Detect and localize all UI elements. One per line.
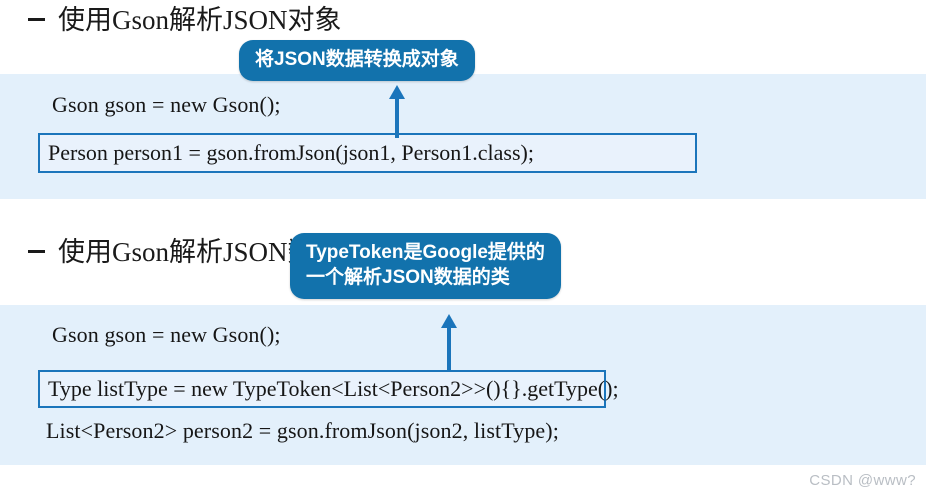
- highlighted-code-box-2: Type listType = new TypeToken<List<Perso…: [38, 370, 606, 408]
- callout-1-line-1: 将JSON数据转换成对象: [255, 47, 459, 72]
- section-heading-1: 使用Gson解析JSON对象: [28, 6, 342, 34]
- csdn-watermark: CSDN @www?: [809, 472, 916, 489]
- callout-arrow-2-icon: [437, 313, 461, 371]
- section-heading-1-text: 使用Gson解析JSON对象: [58, 6, 342, 34]
- code-line-1-1: Gson gson = new Gson();: [52, 92, 281, 118]
- slide-canvas: 使用Gson解析JSON对象 Gson gson = new Gson(); P…: [0, 0, 928, 495]
- callout-arrow-1-icon: [385, 84, 409, 138]
- dash-bullet-icon: [28, 250, 45, 253]
- callout-bubble-2: TypeToken是Google提供的 一个解析JSON数据的类: [290, 233, 561, 299]
- code-line-2-1: Gson gson = new Gson();: [52, 322, 281, 348]
- code-line-2-3: List<Person2> person2 = gson.fromJson(js…: [46, 418, 559, 444]
- code-line-2-2: Type listType = new TypeToken<List<Perso…: [48, 376, 619, 402]
- callout-2-line-2: 一个解析JSON数据的类: [306, 265, 545, 290]
- callout-2-line-1: TypeToken是Google提供的: [306, 240, 545, 265]
- highlighted-code-box-1: Person person1 = gson.fromJson(json1, Pe…: [38, 133, 697, 173]
- callout-bubble-1: 将JSON数据转换成对象: [239, 40, 475, 81]
- dash-bullet-icon: [28, 18, 45, 21]
- code-line-1-2: Person person1 = gson.fromJson(json1, Pe…: [48, 140, 534, 166]
